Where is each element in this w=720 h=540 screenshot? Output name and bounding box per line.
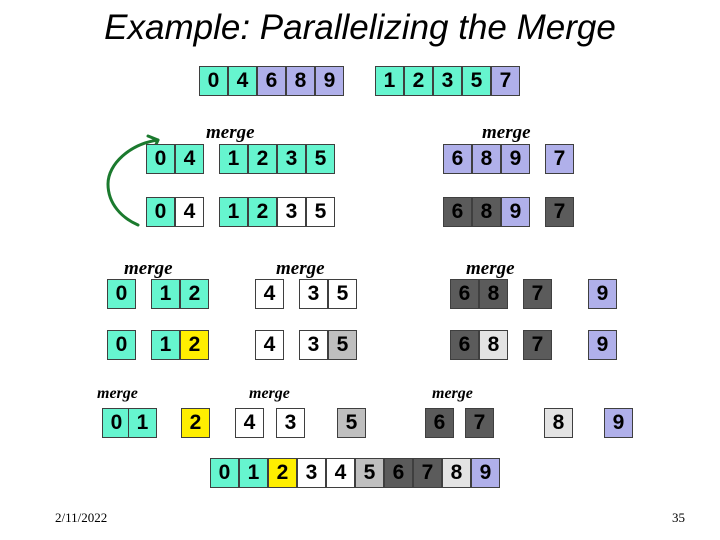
array-cell: 3 xyxy=(276,408,305,438)
array-cell: 1 xyxy=(219,144,248,174)
array-cell: 5 xyxy=(306,197,335,227)
array-cell: 6 xyxy=(450,330,479,360)
page-number: 35 xyxy=(672,510,685,526)
array-cell: 5 xyxy=(462,66,491,96)
array-cell: 4 xyxy=(255,279,284,309)
array-cell: 9 xyxy=(501,197,530,227)
array-cell: 5 xyxy=(355,458,384,488)
array-cell: 6 xyxy=(384,458,413,488)
array-cell: 2 xyxy=(404,66,433,96)
array-cell: 2 xyxy=(248,144,277,174)
merge-label: merge xyxy=(97,385,138,403)
array-cell: 6 xyxy=(450,279,479,309)
array-cell: 2 xyxy=(181,408,210,438)
array-cell: 3 xyxy=(433,66,462,96)
array-cell: 8 xyxy=(286,66,315,96)
array-cell: 8 xyxy=(479,279,508,309)
array-cell: 4 xyxy=(175,197,204,227)
slide-canvas: Example: Parallelizing the Merge 0468912… xyxy=(0,0,720,540)
array-cell: 7 xyxy=(523,279,552,309)
page-title: Example: Parallelizing the Merge xyxy=(0,8,720,48)
array-cell: 2 xyxy=(180,279,209,309)
merge-label: merge xyxy=(124,258,173,280)
merge-label: merge xyxy=(206,122,255,144)
array-cell: 0 xyxy=(146,144,175,174)
array-cell: 9 xyxy=(588,279,617,309)
array-cell: 0 xyxy=(199,66,228,96)
array-cell: 3 xyxy=(299,330,328,360)
array-cell: 1 xyxy=(239,458,268,488)
array-cell: 9 xyxy=(604,408,633,438)
array-cell: 6 xyxy=(425,408,454,438)
array-cell: 7 xyxy=(545,197,574,227)
array-cell: 2 xyxy=(268,458,297,488)
array-cell: 0 xyxy=(107,330,136,360)
array-cell: 4 xyxy=(228,66,257,96)
merge-label: merge xyxy=(249,385,290,403)
array-cell: 5 xyxy=(328,330,357,360)
array-cell: 1 xyxy=(128,408,157,438)
array-cell: 0 xyxy=(146,197,175,227)
array-cell: 0 xyxy=(107,279,136,309)
array-cell: 1 xyxy=(151,330,180,360)
array-cell: 9 xyxy=(501,144,530,174)
array-cell: 2 xyxy=(248,197,277,227)
array-cell: 7 xyxy=(413,458,442,488)
array-cell: 2 xyxy=(180,330,209,360)
array-cell: 6 xyxy=(443,144,472,174)
array-cell: 1 xyxy=(151,279,180,309)
array-cell: 4 xyxy=(255,330,284,360)
array-cell: 7 xyxy=(491,66,520,96)
array-cell: 8 xyxy=(472,197,501,227)
array-cell: 3 xyxy=(299,279,328,309)
merge-label: merge xyxy=(276,258,325,280)
array-cell: 6 xyxy=(257,66,286,96)
array-cell: 3 xyxy=(297,458,326,488)
array-cell: 8 xyxy=(544,408,573,438)
array-cell: 1 xyxy=(375,66,404,96)
array-cell: 8 xyxy=(479,330,508,360)
array-cell: 0 xyxy=(210,458,239,488)
array-cell: 0 xyxy=(102,408,131,438)
array-cell: 5 xyxy=(328,279,357,309)
merge-label: merge xyxy=(482,122,531,144)
array-cell: 7 xyxy=(545,144,574,174)
merge-label: merge xyxy=(432,385,473,403)
array-cell: 4 xyxy=(326,458,355,488)
array-cell: 3 xyxy=(277,197,306,227)
array-cell: 8 xyxy=(472,144,501,174)
array-cell: 8 xyxy=(442,458,471,488)
array-cell: 3 xyxy=(277,144,306,174)
array-cell: 4 xyxy=(235,408,264,438)
array-cell: 5 xyxy=(306,144,335,174)
array-cell: 9 xyxy=(588,330,617,360)
array-cell: 5 xyxy=(337,408,366,438)
array-cell: 4 xyxy=(175,144,204,174)
array-cell: 1 xyxy=(219,197,248,227)
array-cell: 7 xyxy=(465,408,494,438)
array-cell: 7 xyxy=(523,330,552,360)
footer-date: 2/11/2022 xyxy=(55,510,107,526)
array-cell: 6 xyxy=(443,197,472,227)
array-cell: 9 xyxy=(471,458,500,488)
merge-label: merge xyxy=(466,258,515,280)
array-cell: 9 xyxy=(315,66,344,96)
